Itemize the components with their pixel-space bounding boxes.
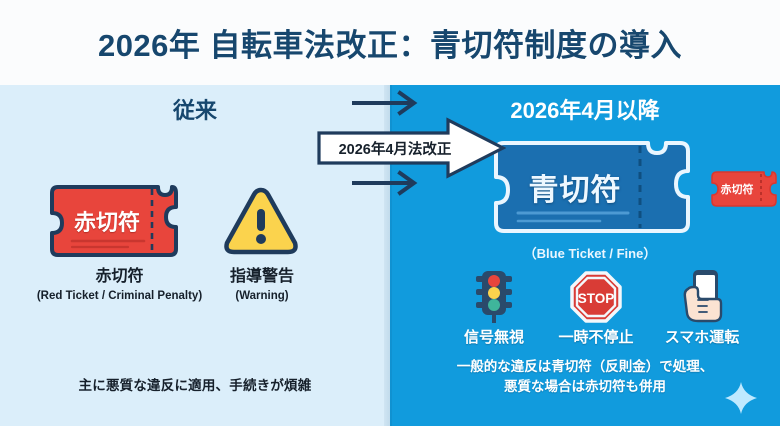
infographic-root: 2026年 自転車法改正：青切符制度の導入 従来 赤切符 赤切符 [0, 0, 780, 426]
violation-item-traffic-light: 信号無視 [444, 267, 544, 347]
red-ticket-caption-en: (Red Ticket / Criminal Penalty) [32, 289, 207, 303]
violation-item-stop-sign: STOP 一時不停止 [546, 267, 646, 347]
red-ticket-icon: 赤切符 [48, 183, 188, 259]
right-panel-footnote-line2: 悪質な場合は赤切符も併用 [400, 377, 770, 397]
violation-icon-row: 信号無視 STOP 一時不停止 [420, 267, 760, 347]
warning-caption-en: (Warning) [206, 289, 318, 303]
traffic-light-icon [444, 267, 544, 323]
blue-ticket-caption: （Blue Ticket / Fine） [450, 243, 730, 262]
violation-label-traffic-light: 信号無視 [444, 326, 544, 347]
red-ticket-caption-jp: 赤切符 [32, 267, 207, 287]
stop-sign-text: STOP [578, 291, 615, 306]
red-ticket-small-icon: 赤切符 [708, 169, 778, 209]
warning-caption-jp: 指導警告 [206, 267, 318, 287]
right-panel-footnote: 一般的な違反は青切符（反則金）で処理、 悪質な場合は赤切符も併用 [400, 357, 770, 398]
warning-caption: 指導警告 (Warning) [206, 267, 318, 303]
law-change-arrow [316, 117, 506, 179]
page-title: 2026年 自転車法改正：青切符制度の導入 [98, 20, 682, 65]
violation-item-smartphone: スマホ運転 [652, 267, 752, 347]
stop-sign-icon: STOP [546, 267, 646, 323]
red-ticket-caption: 赤切符 (Red Ticket / Criminal Penalty) [32, 267, 207, 303]
right-panel-footnote-line1: 一般的な違反は青切符（反則金）で処理、 [400, 357, 770, 377]
blue-ticket-icon: 青切符 [488, 137, 696, 237]
left-panel-footnote: 主に悪質な違反に適用、手続きが煩雑 [0, 374, 390, 394]
violation-label-stop-sign: 一時不停止 [546, 326, 646, 347]
header-bar: 2026年 自転車法改正：青切符制度の導入 [0, 0, 780, 85]
smartphone-in-hand-icon [652, 267, 752, 323]
warning-triangle-icon [222, 185, 300, 257]
violation-label-smartphone: スマホ運転 [652, 326, 752, 347]
sparkle-icon [724, 381, 758, 420]
